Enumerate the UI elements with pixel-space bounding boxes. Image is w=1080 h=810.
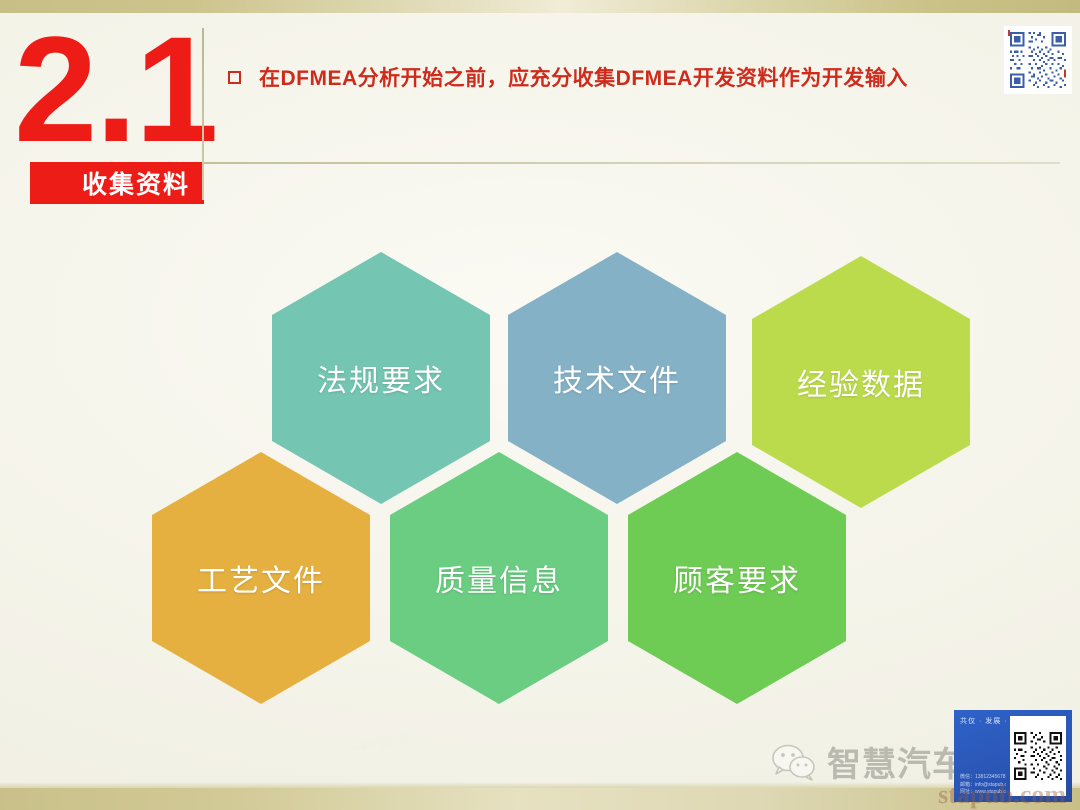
hexagon-label: 质量信息	[435, 556, 563, 600]
vertical-divider	[202, 28, 204, 200]
horizontal-divider	[204, 162, 1060, 164]
hexagon-label: 经验数据	[797, 360, 925, 404]
hexagon-label: 技术文件	[553, 356, 681, 400]
site-watermark: stapub.com	[938, 780, 1066, 810]
qr-code-top[interactable]	[1004, 26, 1072, 94]
section-number-block: 2.1 收集资料	[14, 38, 204, 198]
hexagon-label: 法规要求	[317, 356, 445, 400]
header-text: 在DFMEA分析开始之前，应充分收集DFMEA开发资料作为开发输入	[259, 62, 908, 92]
hexagon-label: 顾客要求	[673, 556, 801, 600]
contact-qr-card-title: 共仅 · 发展 · 共赢	[960, 716, 1006, 726]
section-banner: 收集资料	[30, 162, 204, 204]
section-number: 2.1	[14, 14, 204, 164]
presentation-slide: 2.1 收集资料 在DFMEA分析开始之前，应充分收集DFMEA开发资料作为开发…	[0, 0, 1080, 810]
wechat-icon	[771, 743, 817, 781]
hollow-square-icon	[228, 71, 241, 84]
qr-code-top-icon	[1008, 30, 1068, 90]
header-line: 在DFMEA分析开始之前，应充分收集DFMEA开发资料作为开发输入	[228, 62, 908, 92]
hexagon-label: 工艺文件	[197, 556, 325, 600]
wechat-glyph	[771, 743, 817, 781]
bottom-gold-band	[0, 788, 1080, 810]
